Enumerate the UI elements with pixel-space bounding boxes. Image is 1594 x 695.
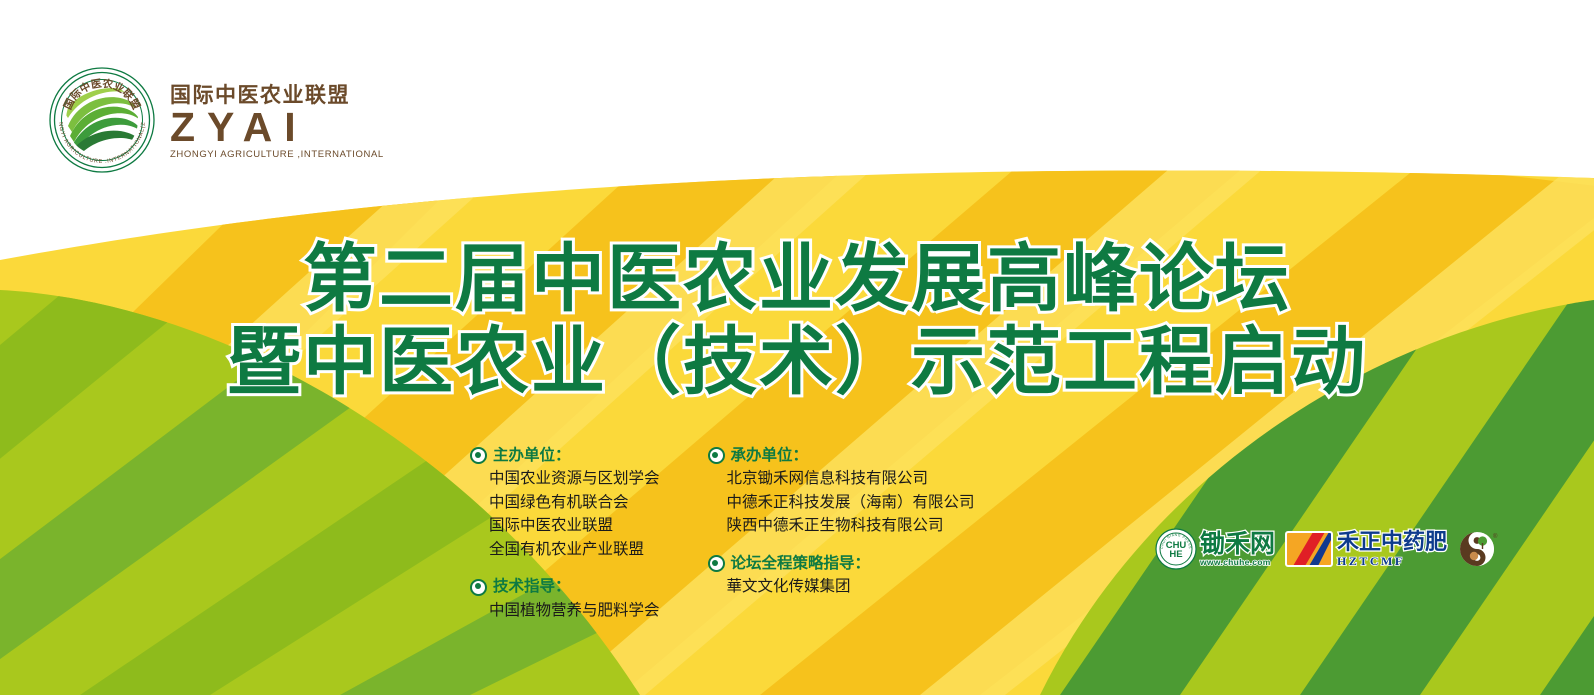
- credit-heading: 主办单位：: [470, 444, 660, 467]
- zyai-name-en: ZHONGYI AGRICULTURE ,INTERNATIONAL: [170, 150, 384, 160]
- credit-heading-label: 主办单位：: [493, 444, 571, 467]
- credit-item: 中德禾正科技发展（海南）有限公司: [708, 491, 975, 515]
- conference-banner: 国际中医农业联盟 ZHONGYI AGRICULTURE .INTERNATIO…: [0, 0, 1594, 695]
- chuhe-url: www.chuhe.com: [1200, 558, 1275, 567]
- zyai-logo: 国际中医农业联盟 ZHONGYI AGRICULTURE .INTERNATIO…: [48, 66, 384, 174]
- bullet-icon: [470, 579, 487, 596]
- zyai-seal-icon: 国际中医农业联盟 ZHONGYI AGRICULTURE .INTERNATIO…: [48, 66, 156, 174]
- chuhe-wordmark: 锄禾网 www.chuhe.com: [1200, 531, 1275, 567]
- bullet-icon: [708, 447, 725, 464]
- credit-item: 中国植物营养与肥料学会: [470, 599, 660, 623]
- svg-text:®: ®: [1493, 533, 1498, 540]
- hezheng-name-cn: 禾正中药肥: [1337, 532, 1447, 554]
- sponsor-chuhe-logo: CHU HE CHUI NIANG PRESS 锄禾网 www.chuhe.co…: [1155, 528, 1275, 570]
- zyai-acronym: ZYAI: [170, 108, 384, 147]
- credit-heading: 承办单位：: [708, 444, 975, 467]
- credit-heading-label: 承办单位：: [731, 444, 809, 467]
- sponsor-yinyang-tree-logo: ®: [1457, 528, 1499, 570]
- tree-yinyang-icon: ®: [1457, 528, 1499, 570]
- sponsor-hezheng-logo: 禾正中药肥 HZTCMF: [1285, 529, 1447, 569]
- svg-text:HE: HE: [1169, 549, 1182, 560]
- credit-item: 中国绿色有机联合会: [470, 491, 660, 515]
- credit-item: 全国有机农业产业联盟: [470, 538, 660, 562]
- chuhe-name-cn: 锄禾网: [1200, 531, 1275, 556]
- credits-column-2: 承办单位： 北京锄禾网信息科技有限公司 中德禾正科技发展（海南）有限公司 陕西中…: [708, 444, 975, 599]
- hezheng-mark-icon: [1285, 529, 1333, 569]
- credit-heading: 论坛全程策略指导：: [708, 552, 975, 575]
- hezheng-name-en: HZTCMF: [1337, 555, 1447, 567]
- credit-item: 華文文化传媒集团: [708, 575, 975, 599]
- credit-heading: 技术指导：: [470, 575, 660, 598]
- credit-item: 北京锄禾网信息科技有限公司: [708, 467, 975, 491]
- credit-heading-label: 技术指导：: [493, 575, 571, 598]
- hezheng-wordmark: 禾正中药肥 HZTCMF: [1337, 532, 1447, 567]
- credit-group-hosts: 承办单位： 北京锄禾网信息科技有限公司 中德禾正科技发展（海南）有限公司 陕西中…: [708, 444, 975, 538]
- sponsor-logos: CHU HE CHUI NIANG PRESS 锄禾网 www.chuhe.co…: [1155, 528, 1499, 570]
- credit-item: 中国农业资源与区划学会: [470, 467, 660, 491]
- chuhe-seal-icon: CHU HE CHUI NIANG PRESS: [1155, 528, 1197, 570]
- credit-group-organizers: 主办单位： 中国农业资源与区划学会 中国绿色有机联合会 国际中医农业联盟 全国有…: [470, 444, 660, 561]
- credits-block: 主办单位： 中国农业资源与区划学会 中国绿色有机联合会 国际中医农业联盟 全国有…: [470, 444, 975, 622]
- zyai-wordmark: 国际中医农业联盟 ZYAI ZHONGYI AGRICULTURE ,INTER…: [170, 81, 384, 159]
- credit-group-strategy-guidance: 论坛全程策略指导： 華文文化传媒集团: [708, 552, 975, 599]
- credits-column-1: 主办单位： 中国农业资源与区划学会 中国绿色有机联合会 国际中医农业联盟 全国有…: [470, 444, 660, 622]
- credit-group-technical-guidance: 技术指导： 中国植物营养与肥料学会: [470, 575, 660, 622]
- bullet-icon: [470, 447, 487, 464]
- zyai-name-cn: 国际中医农业联盟: [170, 85, 384, 106]
- credit-item: 陕西中德禾正生物科技有限公司: [708, 514, 975, 538]
- credit-heading-label: 论坛全程策略指导：: [731, 552, 871, 575]
- bullet-icon: [708, 555, 725, 572]
- credit-item: 国际中医农业联盟: [470, 514, 660, 538]
